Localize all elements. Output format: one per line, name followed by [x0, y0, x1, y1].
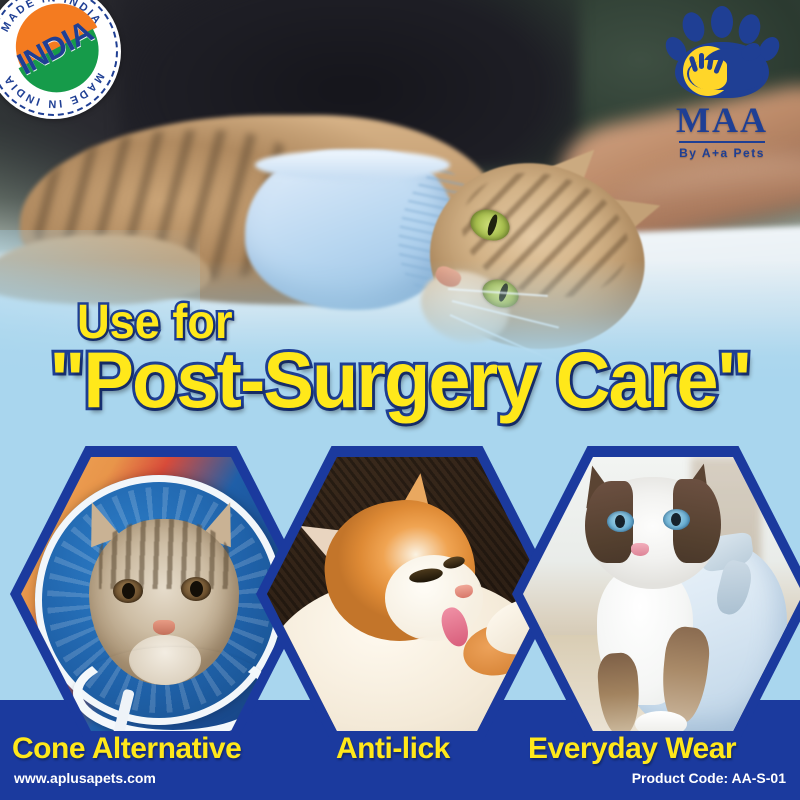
panel3-cat-pupil-right: [671, 513, 681, 526]
website-url[interactable]: www.aplusapets.com: [14, 770, 156, 786]
hero-recovery-suit-band: [255, 150, 450, 180]
poster-canvas: MADE IN INDIA MADE IN INDIA INDIA: [0, 0, 800, 800]
panel3-cat-nose: [631, 543, 649, 556]
panel3-cat-pupil-left: [615, 515, 625, 528]
feature-panel-row: [0, 446, 800, 746]
panel-anti-lick-image: [267, 457, 547, 731]
cone-collar-rim: [73, 647, 273, 731]
caption-cone-alternative: Cone Alternative: [12, 732, 241, 766]
logo-divider: [679, 141, 765, 143]
panel-everyday-wear-image: [523, 457, 800, 731]
panel-everyday-wear[interactable]: [512, 446, 800, 742]
panel1-cat-pupil-left: [122, 583, 135, 599]
brand-wordmark: MAA: [662, 102, 782, 138]
product-code: Product Code: AA-S-01: [632, 770, 786, 786]
brand-tagline: By A+a Pets: [662, 146, 782, 160]
headline-block: Use for "Post-Surgery Care": [0, 300, 800, 418]
paw-toe-icon: [679, 10, 707, 45]
caption-anti-lick: Anti-lick: [336, 732, 450, 766]
paw-toe-icon: [711, 6, 733, 38]
caring-hand-icon: [689, 60, 727, 90]
panel1-cat-forehead-stripes: [99, 519, 229, 589]
panel-captions-row: Cone Alternative Anti-lick Everyday Wear: [0, 726, 800, 772]
hand-finger: [699, 53, 704, 69]
panel1-cat-nose: [153, 620, 175, 635]
hand-finger: [713, 58, 724, 75]
headline-line-2: "Post-Surgery Care": [16, 342, 784, 419]
made-in-india-seal: MADE IN INDIA MADE IN INDIA INDIA: [0, 0, 121, 119]
caption-everyday-wear: Everyday Wear: [528, 732, 736, 766]
panel1-cat-pupil-right: [190, 581, 203, 597]
footer-row: www.aplusapets.com Product Code: AA-S-01: [0, 770, 800, 796]
paw-toe-icon: [736, 12, 764, 46]
maa-brand-logo: MAA By A+a Pets: [662, 8, 782, 158]
paw-print-with-dog-icon: [667, 8, 777, 100]
